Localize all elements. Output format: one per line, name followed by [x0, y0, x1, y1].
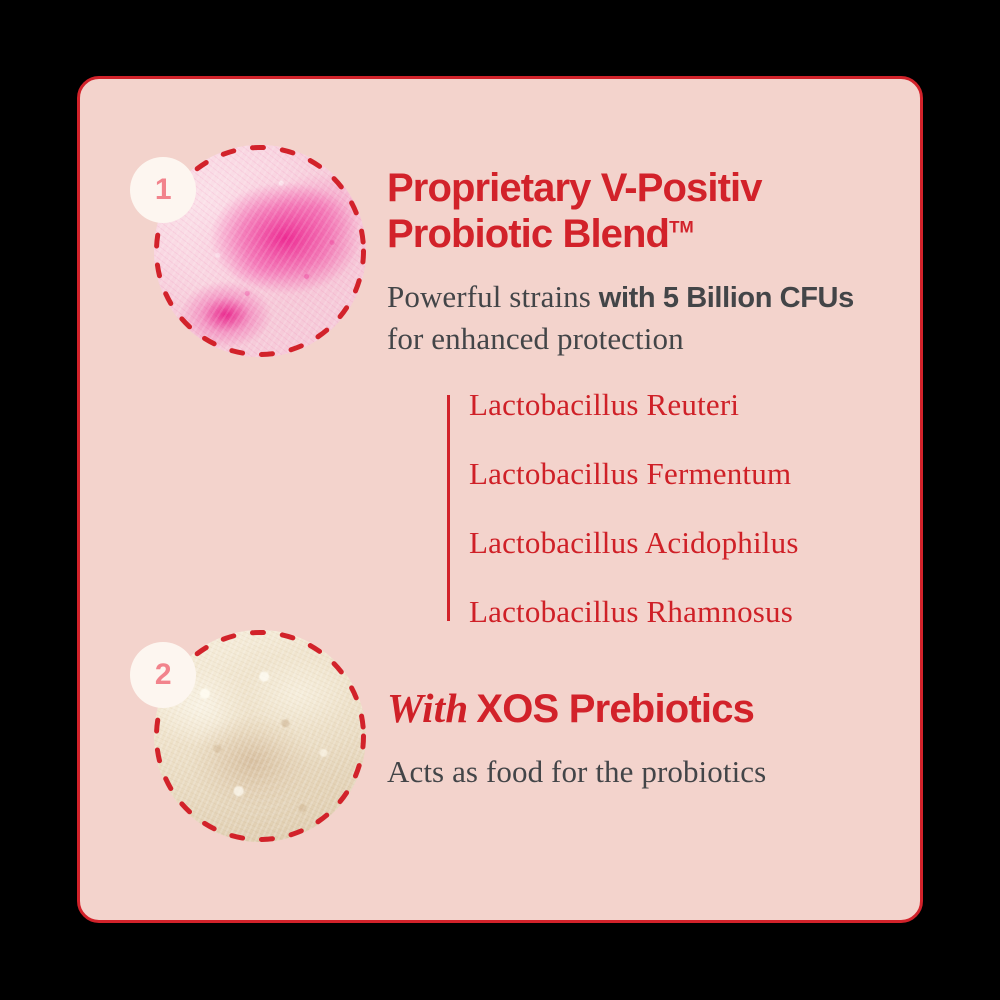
heading-italic-with: With [387, 685, 468, 731]
xos-prebiotic-copy-block: WithXOS Prebiotics Acts as food for the … [387, 686, 887, 793]
trademark-symbol: TM [669, 218, 694, 237]
list-item: Lactobacillus Rhamnosus [469, 596, 897, 627]
list-item: Lactobacillus Reuteri [469, 389, 897, 420]
list-item: Lactobacillus Fermentum [469, 458, 897, 489]
step-badge-2: 2 [130, 642, 196, 708]
product-benefits-card: 1 Proprietary V-PositivProbiotic BlendTM… [77, 76, 923, 923]
strain-list: Lactobacillus Reuteri Lactobacillus Ferm… [469, 389, 897, 627]
probiotic-blend-copy-block: Proprietary V-PositivProbiotic BlendTM P… [387, 165, 897, 627]
heading-bold-xos: XOS Prebiotics [476, 687, 754, 731]
probiotic-blend-subtitle: Powerful strains with 5 Billion CFUs for… [387, 276, 897, 359]
xos-prebiotic-subtitle: Acts as food for the probiotics [387, 751, 887, 793]
step-badge-1-number: 1 [155, 175, 171, 205]
screenshot-stage: 1 Proprietary V-PositivProbiotic BlendTM… [0, 0, 1000, 1000]
probiotic-blend-heading: Proprietary V-PositivProbiotic BlendTM [387, 165, 897, 258]
subtitle-part-plain-1: Powerful strains [387, 279, 599, 314]
heading-line-2: Probiotic Blend [387, 212, 669, 256]
list-item: Lactobacillus Acidophilus [469, 527, 897, 558]
strain-list-wrapper: Lactobacillus Reuteri Lactobacillus Ferm… [447, 389, 897, 627]
step-badge-2-number: 2 [155, 660, 171, 690]
subtitle-part-plain-2: for enhanced protection [387, 321, 684, 356]
xos-prebiotic-heading: WithXOS Prebiotics [387, 686, 887, 731]
step-badge-1: 1 [130, 157, 196, 223]
strain-list-vertical-rule [447, 395, 450, 621]
heading-line-1: Proprietary V-Positiv [387, 166, 762, 210]
subtitle-part-emphasis: with 5 Billion CFUs [599, 282, 854, 314]
